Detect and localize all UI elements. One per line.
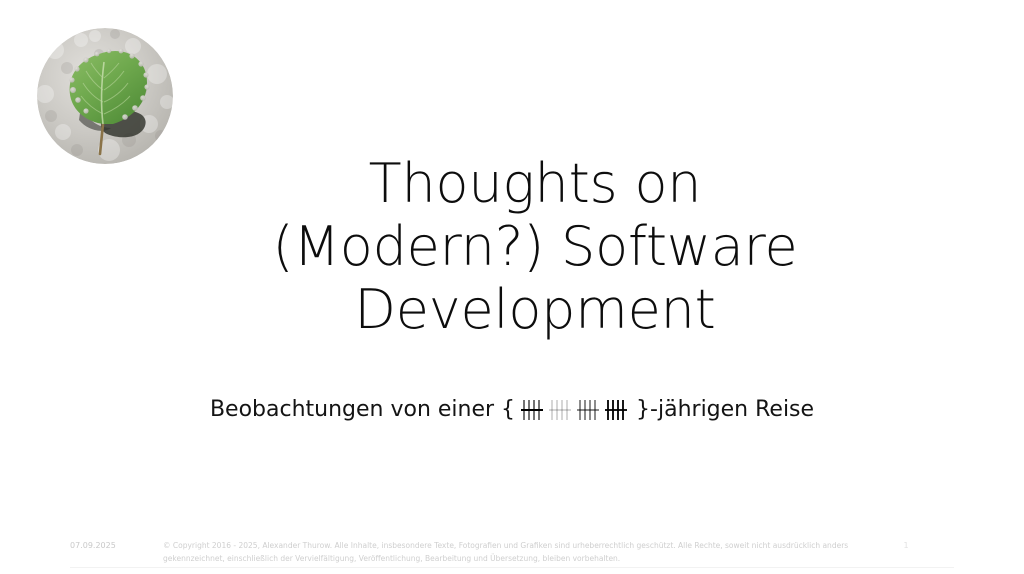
title-line-3: Development xyxy=(262,278,808,341)
tally-cross-stroke xyxy=(549,409,571,411)
footer-divider xyxy=(70,567,954,568)
subtitle-prefix: Beobachtungen von einer { xyxy=(210,397,515,422)
copyright-line-1: © Copyright 2016 - 2025, Alexander Thuro… xyxy=(163,539,823,552)
footer-date: 07.09.2025 xyxy=(70,540,116,551)
subtitle-suffix: }-jährigen Reise xyxy=(636,397,814,422)
tally-group-2 xyxy=(550,400,573,420)
tally-cross-stroke xyxy=(577,409,599,411)
tally-cross-stroke xyxy=(521,409,543,411)
leaf-on-stone-logo xyxy=(37,28,173,164)
tally-group-3 xyxy=(578,400,601,420)
subtitle-text: Beobachtungen von einer { }-jährigen Rei… xyxy=(112,396,912,424)
page-number: 1 xyxy=(886,540,926,551)
tally-group-1 xyxy=(522,400,545,420)
tally-group-4 xyxy=(606,400,629,420)
slide-title: Thoughts on (Modern?) Software Developme… xyxy=(262,152,808,341)
presentation-slide: Thoughts on (Modern?) Software Developme… xyxy=(0,0,1024,574)
tally-mark-counter xyxy=(515,396,636,424)
copyright-line-2: gekennzeichnet, einschließlich der Vervi… xyxy=(163,552,823,565)
footer-copyright: © Copyright 2016 - 2025, Alexander Thuro… xyxy=(163,539,823,565)
title-line-1: Thoughts on xyxy=(262,152,808,215)
slide-subtitle: Beobachtungen von einer { }-jährigen Rei… xyxy=(112,396,912,424)
title-line-2: (Modern?) Software xyxy=(262,215,808,278)
tally-cross-stroke xyxy=(605,409,627,411)
